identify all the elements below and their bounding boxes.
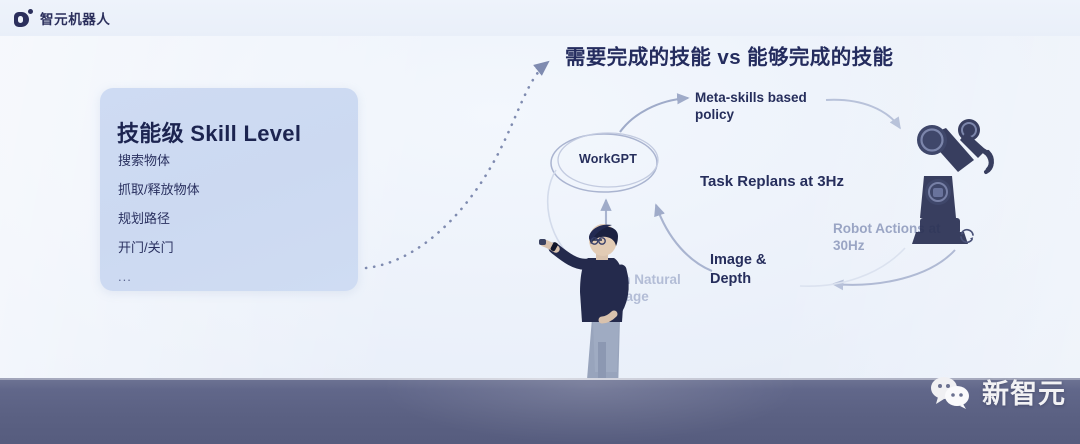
dotted-curved-arrow-icon — [366, 62, 548, 268]
watermark-text: 新智元 — [982, 372, 1066, 411]
brand-bar: 智元机器人 — [0, 0, 1080, 36]
screenshot-root: 需要完成的技能 vs 能够完成的技能 WorkGPT Meta-skills b… — [0, 0, 1080, 444]
workgpt-node-label-wrap: WorkGPT — [552, 133, 664, 191]
watermark: 新智元 — [927, 372, 1066, 411]
sync-refresh-icon — [957, 226, 977, 246]
label-meta-skills-policy: Meta-skills based policy — [695, 89, 820, 124]
slide-title: 需要完成的技能 vs 能够完成的技能 — [565, 40, 893, 70]
brand-name: 智元机器人 — [40, 8, 111, 28]
skill-level-card: 技能级 Skill Level 搜索物体 抓取/释放物体 规划路径 开门/关门 … — [100, 88, 358, 291]
wechat-icon — [927, 374, 973, 410]
skill-card-list: 搜索物体 抓取/释放物体 规划路径 开门/关门 ... — [118, 154, 338, 299]
arrow-image-to-workgpt — [656, 205, 712, 271]
list-item: 规划路径 — [118, 212, 338, 225]
skill-card-title: 技能级 Skill Level — [117, 116, 301, 148]
list-item: 开门/关门 — [118, 241, 338, 254]
arrow-to-robot — [826, 100, 900, 128]
label-task-replans: Task Replans at 3Hz — [700, 172, 844, 191]
list-item-ellipsis: ... — [118, 270, 338, 283]
brand-logo: 智元机器人 — [14, 8, 111, 28]
list-item: 搜索物体 — [118, 154, 338, 167]
arrow-to-meta-policy — [620, 98, 688, 132]
zhiyuan-robot-logo-icon — [14, 9, 33, 28]
robot-arm-icon — [890, 106, 998, 246]
list-item: 抓取/释放物体 — [118, 183, 338, 196]
label-image-depth: Image & Depth — [710, 251, 800, 288]
stage-floor-glow — [380, 380, 800, 444]
workgpt-label: WorkGPT — [552, 152, 664, 166]
